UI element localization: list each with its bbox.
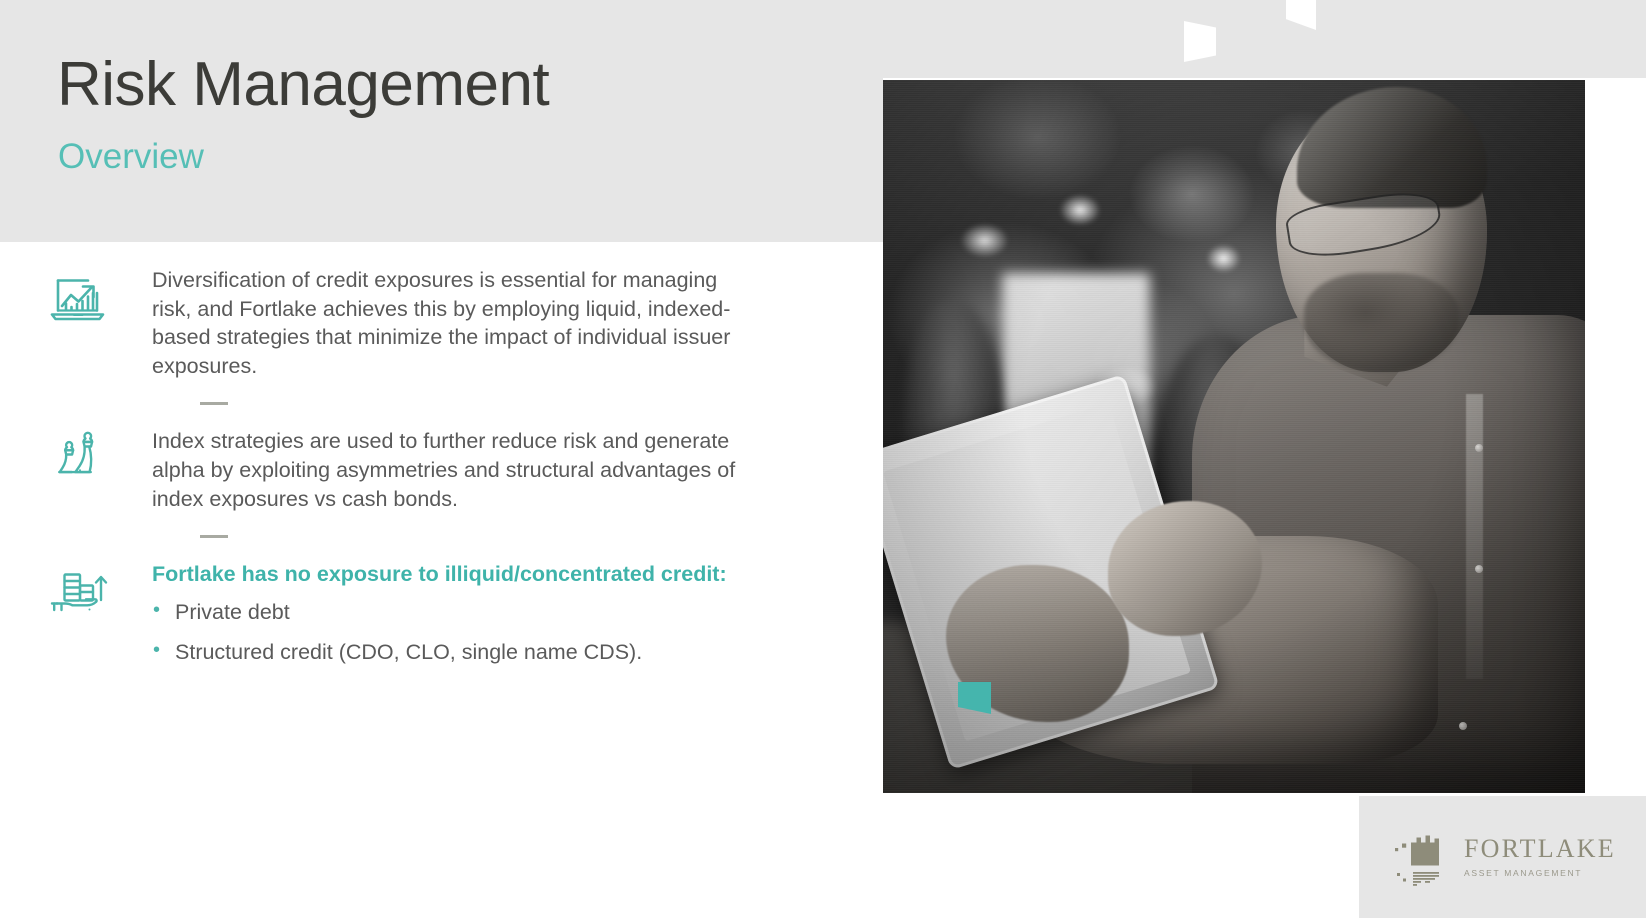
section-divider-1 bbox=[200, 402, 228, 405]
decorative-trapezoid-icon-left bbox=[1184, 21, 1216, 62]
photo-ceiling-light bbox=[1059, 194, 1101, 226]
list-item-text: Index strategies are used to further red… bbox=[152, 427, 740, 513]
list-item-lead-text: Fortlake has no exposure to illiquid/con… bbox=[152, 560, 727, 589]
chess-pieces-icon bbox=[48, 427, 120, 490]
fortress-castle-icon bbox=[1395, 828, 1451, 886]
logo-block: FORTLAKE ASSET MANAGEMENT bbox=[1359, 796, 1646, 918]
list-item-body: Index strategies are used to further red… bbox=[120, 427, 740, 513]
list-item: Diversification of credit exposures is e… bbox=[0, 266, 883, 380]
logo-wordmark: FORTLAKE bbox=[1464, 836, 1616, 862]
photo-man-shirt-button bbox=[1459, 722, 1467, 730]
logo-tagline: ASSET MANAGEMENT bbox=[1464, 868, 1616, 878]
header-band-right bbox=[883, 0, 1646, 78]
list-item: Index strategies are used to further red… bbox=[0, 427, 883, 513]
page-subtitle: Overview bbox=[58, 136, 204, 178]
bullet-item: Private debt bbox=[152, 598, 727, 627]
logo-text-wrap: FORTLAKE ASSET MANAGEMENT bbox=[1464, 828, 1616, 878]
laptop-growth-chart-icon bbox=[48, 266, 120, 329]
slide: Risk Management Overview bbox=[0, 0, 1646, 918]
bullet-item: Structured credit (CDO, CLO, single name… bbox=[152, 638, 727, 667]
header-band bbox=[0, 0, 883, 242]
photo-man-shirt-button bbox=[1475, 444, 1483, 452]
list-item-body: Fortlake has no exposure to illiquid/con… bbox=[120, 560, 727, 679]
photo-ceiling-light bbox=[960, 223, 1009, 259]
list-item: Fortlake has no exposure to illiquid/con… bbox=[0, 560, 883, 679]
list-item-text: Diversification of credit exposures is e… bbox=[152, 266, 740, 380]
photo-man-shirt-button bbox=[1475, 565, 1483, 573]
list-item-body: Diversification of credit exposures is e… bbox=[120, 266, 740, 380]
content-column: Diversification of credit exposures is e… bbox=[0, 242, 883, 679]
hand-coins-growth-icon bbox=[48, 560, 120, 623]
section-divider-2 bbox=[200, 535, 228, 538]
logo-inner: FORTLAKE ASSET MANAGEMENT bbox=[1395, 828, 1616, 886]
bullet-list: Private debt Structured credit (CDO, CLO… bbox=[152, 598, 727, 667]
page-title: Risk Management bbox=[57, 52, 549, 117]
photo-man-shirt-placket bbox=[1466, 394, 1484, 679]
photo-ceiling-light bbox=[1206, 244, 1241, 273]
